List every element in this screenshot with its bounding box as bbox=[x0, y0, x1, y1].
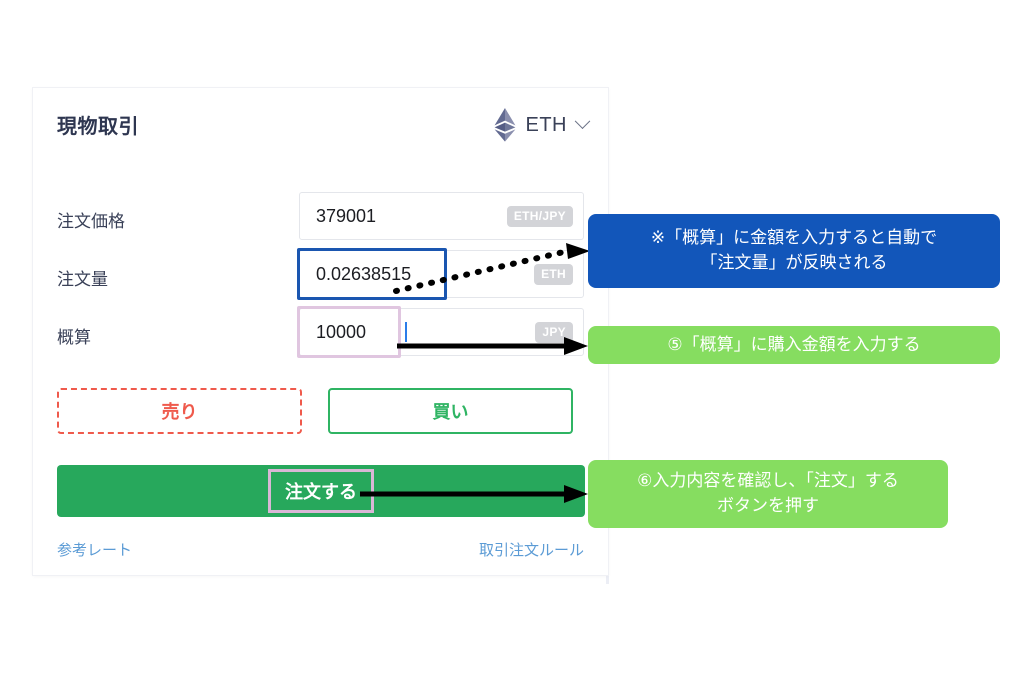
card-header: 現物取引 ETH bbox=[33, 88, 608, 160]
screenshot-root: 現物取引 ETH 注文価格 379001 ETH/JPY bbox=[0, 0, 1024, 683]
estimate-label: 概算 bbox=[57, 323, 91, 348]
order-price-label: 注文価格 bbox=[57, 207, 125, 232]
spot-trading-card: 現物取引 ETH 注文価格 379001 ETH/JPY bbox=[33, 88, 608, 575]
callout-note-line1: ※「概算」に金額を入力すると自動で bbox=[651, 226, 937, 251]
callout-auto-fill-note: ※「概算」に金額を入力すると自動で 「注文量」が反映される bbox=[588, 214, 1000, 288]
order-price-row: 注文価格 379001 ETH/JPY bbox=[33, 192, 608, 244]
chevron-down-icon bbox=[575, 113, 591, 129]
callout-step6-line1: ⑥入力内容を確認し、「注文」する bbox=[637, 469, 899, 494]
place-order-button[interactable]: 注文する bbox=[57, 465, 585, 517]
order-amount-label: 注文量 bbox=[57, 265, 108, 290]
order-amount-row: 注文量 0.02638515 ETH bbox=[33, 250, 608, 302]
order-amount-unit-badge: ETH bbox=[534, 264, 573, 285]
estimate-unit-badge: JPY bbox=[535, 322, 573, 343]
order-amount-input[interactable]: 0.02638515 ETH bbox=[299, 250, 584, 298]
order-price-unit-badge: ETH/JPY bbox=[507, 206, 573, 227]
currency-pair-selector[interactable]: ETH bbox=[494, 108, 589, 142]
callout-step-5: ⑤「概算」に購入金額を入力する bbox=[588, 326, 1000, 364]
callout-step-6: ⑥入力内容を確認し、「注文」する ボタンを押す bbox=[588, 460, 948, 528]
ethereum-icon bbox=[494, 108, 516, 142]
order-amount-value: 0.02638515 bbox=[316, 264, 411, 285]
callout-note-line2: 「注文量」が反映される bbox=[651, 251, 937, 276]
estimate-row: 概算 10000 JPY bbox=[33, 308, 608, 360]
estimate-input[interactable]: 10000 JPY bbox=[299, 308, 584, 356]
page-title: 現物取引 bbox=[57, 110, 139, 139]
text-cursor bbox=[405, 322, 407, 342]
callout-step5-line1: ⑤「概算」に購入金額を入力する bbox=[667, 333, 920, 358]
callout-step6-line2: ボタンを押す bbox=[637, 494, 899, 519]
estimate-value: 10000 bbox=[316, 322, 366, 343]
currency-pair-label: ETH bbox=[526, 114, 568, 137]
order-price-input[interactable]: 379001 ETH/JPY bbox=[299, 192, 584, 240]
trading-rules-link[interactable]: 取引注文ルール bbox=[479, 539, 584, 560]
sell-button[interactable]: 売り bbox=[57, 388, 302, 434]
order-price-value: 379001 bbox=[316, 206, 376, 227]
reference-rate-link[interactable]: 参考レート bbox=[57, 539, 132, 560]
buy-button[interactable]: 買い bbox=[328, 388, 573, 434]
place-order-button-label: 注文する bbox=[268, 469, 374, 513]
